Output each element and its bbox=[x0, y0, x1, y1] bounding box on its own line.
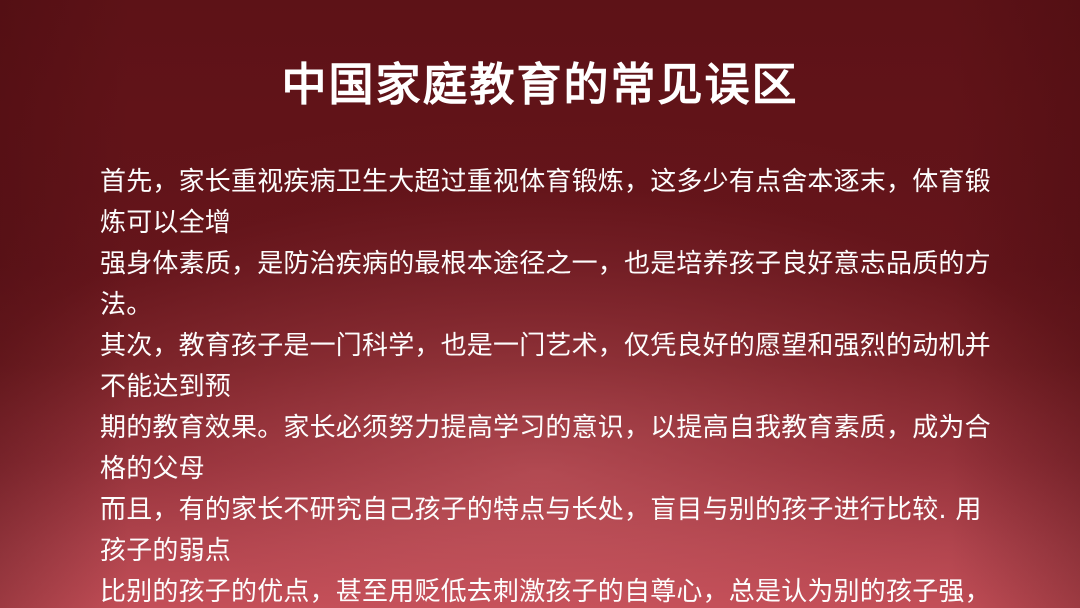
page-title: 中国家庭教育的常见误区 bbox=[0, 58, 1080, 111]
slide-canvas: 中国家庭教育的常见误区 首先，家长重视疾病卫生大超过重视体育锻炼，这多少有点舍本… bbox=[0, 0, 1080, 608]
slide-body-text: 首先，家长重视疾病卫生大超过重视体育锻炼，这多少有点舍本逐末，体育锻炼可以全增 … bbox=[100, 162, 1000, 608]
slide-content: 中国家庭教育的常见误区 首先，家长重视疾病卫生大超过重视体育锻炼，这多少有点舍本… bbox=[0, 0, 1080, 608]
